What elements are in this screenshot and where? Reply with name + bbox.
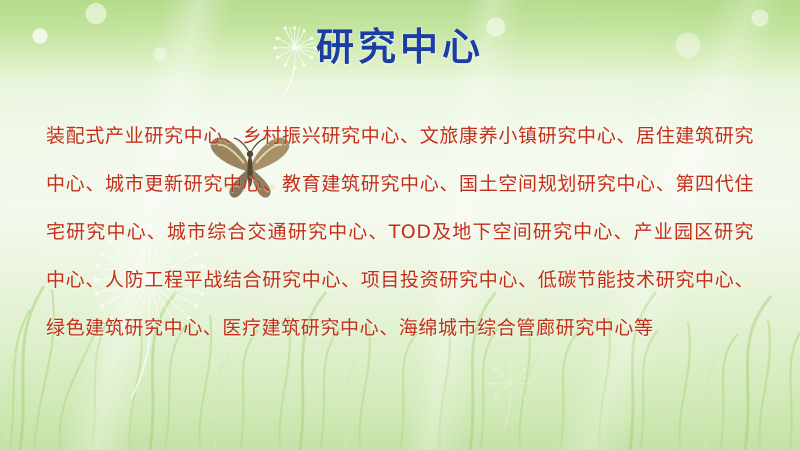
body-paragraph: 装配式产业研究中心、乡村振兴研究中心、文旅康养小镇研究中心、居住建筑研究中心、城… <box>46 112 754 352</box>
page-title: 研究中心 <box>0 16 800 71</box>
slide: 研究中心 装配式产业研究中心、乡村振兴研究中心、文旅康养小镇研究中心、居住建筑研… <box>0 0 800 450</box>
